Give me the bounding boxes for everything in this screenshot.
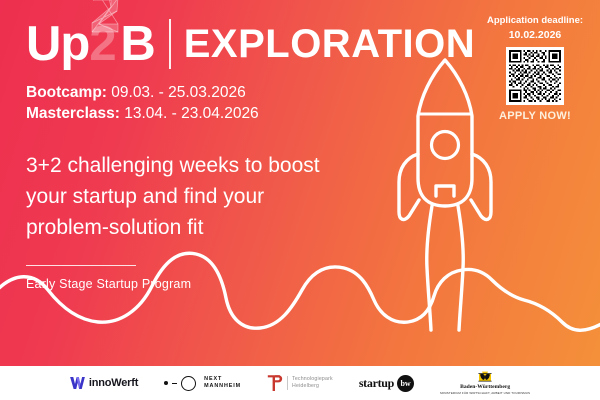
technologiepark-line-2: Heidelberg (292, 383, 333, 390)
technologiepark-line-1: Technologiepark (292, 376, 333, 383)
headline-line-3: problem-solution fit (26, 212, 320, 243)
baden-wuerttemberg-ministry: MINISTERIUM FÜR WIRTSCHAFT, ARBEIT UND T… (440, 391, 530, 395)
partner-logo-strip: innoWerft NEXT MANNHEIM Technologiepark … (0, 366, 600, 400)
brand-lockup: Up2B EXPLORATION (26, 14, 475, 74)
bootcamp-label: Bootcamp: (26, 84, 107, 101)
partner-logo-innowerft[interactable]: innoWerft (70, 371, 138, 395)
lockup-divider (169, 19, 171, 69)
logo-up-text: Up (26, 20, 89, 69)
qr-code-image (509, 50, 561, 102)
next-dot-icon (164, 381, 168, 385)
deadline-block: Application deadline: 10.02.2026 (480, 14, 590, 122)
schedule-block: Bootcamp: 09.03. - 25.03.2026 Masterclas… (26, 82, 259, 124)
partner-logo-startup-bw[interactable]: startup bw (359, 371, 414, 395)
headline-line-2: your startup and find your (26, 181, 320, 212)
next-dash-icon (172, 383, 177, 384)
bootcamp-dates: 09.03. - 25.03.2026 (111, 84, 245, 101)
next-mannheim-label: NEXT MANNHEIM (204, 376, 241, 390)
startup-bw-badge: bw (397, 375, 414, 392)
baden-wuerttemberg-crest-icon (474, 371, 496, 384)
logo-two-mark: 2 (89, 20, 120, 69)
masterclass-label: Masterclass: (26, 105, 120, 122)
program-title: EXPLORATION (184, 24, 475, 64)
partner-logo-baden-wuerttemberg[interactable]: Baden-Württemberg MINISTERIUM FÜR WIRTSC… (440, 371, 530, 395)
baden-wuerttemberg-label: Baden-Württemberg (460, 384, 510, 391)
program-subtitle: Early Stage Startup Program (26, 277, 191, 291)
next-ring-icon (181, 376, 196, 391)
schedule-row-bootcamp: Bootcamp: 09.03. - 25.03.2026 (26, 82, 259, 103)
masterclass-dates: 13.04. - 23.04.2026 (124, 105, 258, 122)
innowerft-label: innoWerft (89, 377, 138, 389)
deadline-label: Application deadline: (480, 14, 590, 27)
partner-logo-technologiepark[interactable]: Technologiepark Heidelberg (267, 371, 333, 395)
deadline-date: 10.02.2026 (480, 28, 590, 42)
headline-line-1: 3+2 challenging weeks to boost (26, 150, 320, 181)
promo-banner: Up2B EXPLORATION Bootcamp: 09.03. - 25.0… (0, 0, 600, 400)
startup-bw-label: startup (359, 376, 394, 391)
technologiepark-label: Technologiepark Heidelberg (292, 376, 333, 390)
divider-rule (26, 265, 136, 266)
schedule-row-masterclass: Masterclass: 13.04. - 23.04.2026 (26, 103, 259, 124)
partner-logo-next-mannheim[interactable]: NEXT MANNHEIM (164, 371, 241, 395)
up2b-logo: Up2B (26, 20, 155, 69)
technologiepark-tp-icon (267, 374, 283, 392)
apply-now-cta[interactable]: APPLY NOW! (480, 110, 590, 122)
innowerft-w-icon (70, 377, 85, 389)
headline-block: 3+2 challenging weeks to boost your star… (26, 150, 320, 243)
technologiepark-divider (287, 376, 288, 390)
next-line-1: NEXT (204, 376, 241, 383)
next-line-2: MANNHEIM (204, 383, 241, 390)
qr-code[interactable] (506, 47, 564, 105)
logo-b-text: B (120, 20, 154, 69)
logo-two-facets (87, 0, 125, 40)
